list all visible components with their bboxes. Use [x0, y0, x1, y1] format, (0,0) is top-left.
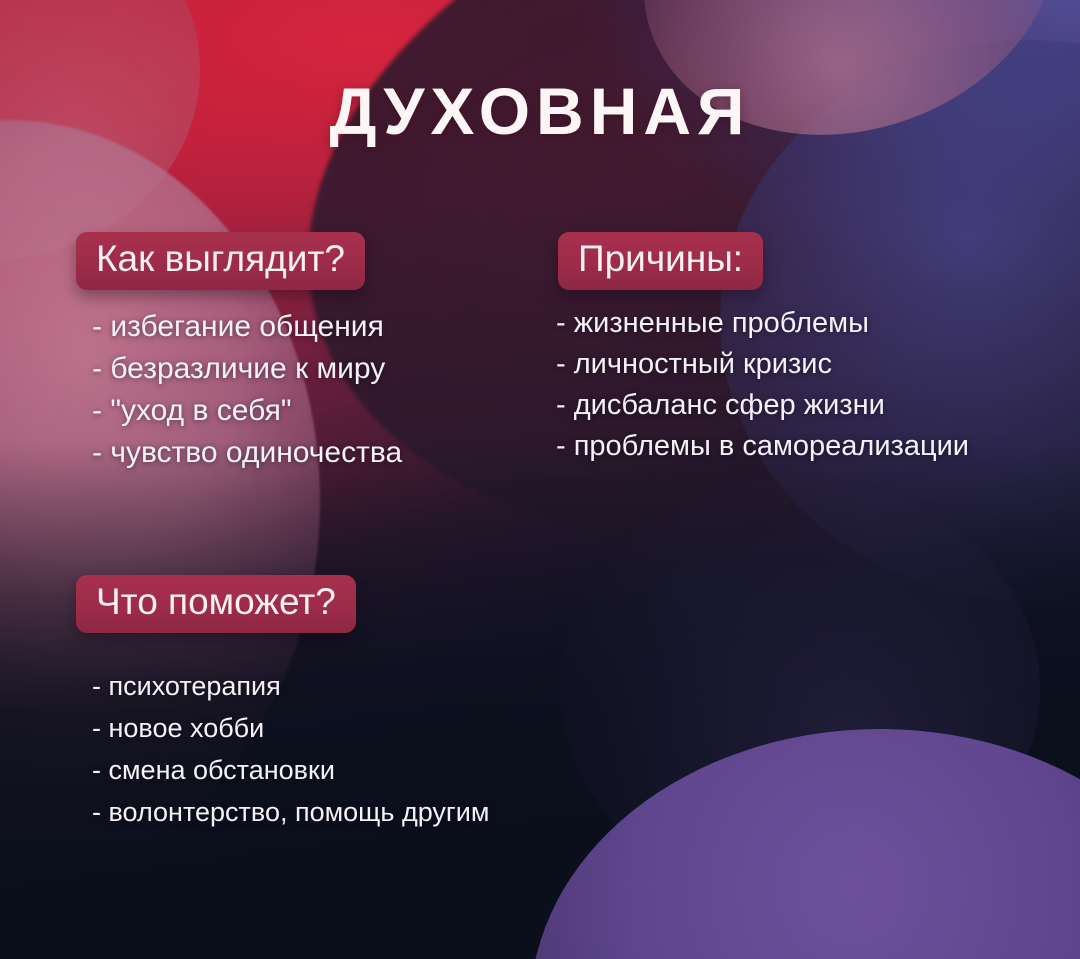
list-item: - личностный кризис	[556, 344, 969, 385]
section-badge-causes: Причины:	[558, 232, 763, 290]
list-item: - дисбаланс сфер жизни	[556, 385, 969, 426]
list-item: - избегание общения	[92, 306, 402, 348]
section-list-causes: - жизненные проблемы - личностный кризис…	[556, 303, 969, 467]
list-item: - новое хобби	[92, 707, 489, 749]
poster-content: ДУХОВНАЯ Как выглядит? - избегание общен…	[0, 0, 1080, 959]
list-item: - жизненные проблемы	[556, 303, 969, 344]
list-item: - безразличие к миру	[92, 348, 402, 390]
poster-canvas: ДУХОВНАЯ Как выглядит? - избегание общен…	[0, 0, 1080, 959]
list-item: - психотерапия	[92, 665, 489, 707]
list-item: - смена обстановки	[92, 749, 489, 791]
list-item: - чувство одиночества	[92, 432, 402, 474]
poster-title: ДУХОВНАЯ	[0, 78, 1080, 144]
section-badge-looks: Как выглядит?	[76, 232, 365, 290]
list-item: - проблемы в самореализации	[556, 426, 969, 467]
section-list-helps: - психотерапия - новое хобби - смена обс…	[92, 665, 489, 833]
list-item: - "уход в себя"	[92, 390, 402, 432]
section-list-looks: - избегание общения - безразличие к миру…	[92, 306, 402, 474]
section-badge-helps: Что поможет?	[76, 575, 356, 633]
list-item: - волонтерство, помощь другим	[92, 791, 489, 833]
